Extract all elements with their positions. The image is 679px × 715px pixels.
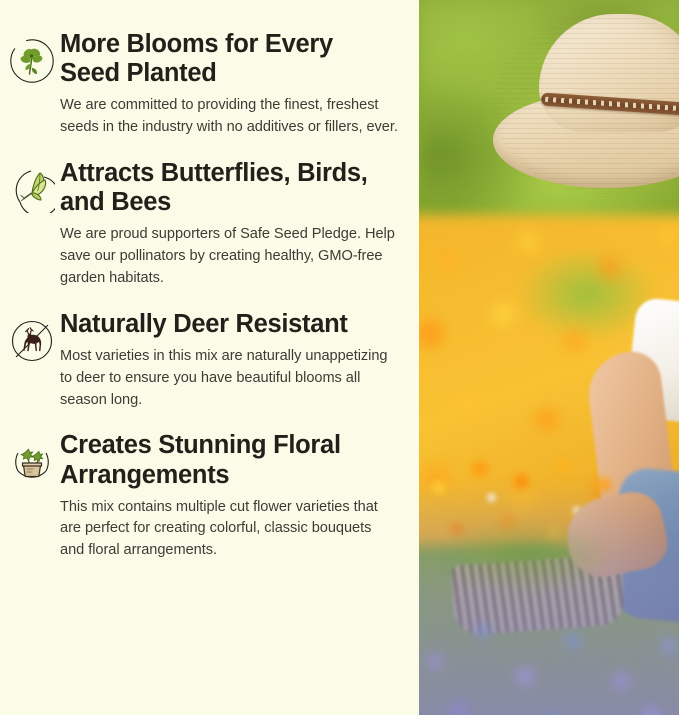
feature-item: More Blooms for Every Seed Planted We ar…: [4, 30, 407, 145]
flower-bloom-icon: [9, 38, 55, 84]
features-panel: More Blooms for Every Seed Planted We ar…: [0, 0, 419, 715]
feature-text: Attracts Butterflies, Birds, and Bees We…: [60, 159, 407, 290]
purple-wildflowers-foreground: [419, 481, 679, 715]
butterfly-icon: [9, 167, 55, 213]
feature-title: Naturally Deer Resistant: [60, 310, 399, 339]
lifestyle-photo: [419, 0, 679, 715]
feature-item: Attracts Butterflies, Birds, and Bees We…: [4, 159, 407, 296]
feature-title: Creates Stunning Floral Arrangements: [60, 431, 399, 489]
feature-icon-container: [4, 159, 60, 213]
feature-title: More Blooms for Every Seed Planted: [60, 30, 399, 88]
feature-text: Creates Stunning Floral Arrangements Thi…: [60, 431, 407, 562]
feature-item: Creates Stunning Floral Arrangements Thi…: [4, 431, 407, 568]
feature-icon-container: [4, 30, 60, 84]
potted-plant-icon: [9, 439, 55, 485]
feature-description: We are committed to providing the finest…: [60, 95, 399, 139]
no-deer-icon: [9, 318, 55, 364]
feature-description: We are proud supporters of Safe Seed Ple…: [60, 224, 399, 290]
product-feature-banner: More Blooms for Every Seed Planted We ar…: [0, 0, 679, 715]
feature-description: This mix contains multiple cut flower va…: [60, 497, 399, 563]
feature-description: Most varieties in this mix are naturally…: [60, 346, 399, 412]
curly-hair: [537, 158, 679, 278]
feature-item: Naturally Deer Resistant Most varieties …: [4, 310, 407, 418]
feature-icon-container: [4, 310, 60, 364]
feature-title: Attracts Butterflies, Birds, and Bees: [60, 159, 399, 217]
photo-stage: [419, 0, 679, 715]
feature-text: More Blooms for Every Seed Planted We ar…: [60, 30, 407, 139]
feature-text: Naturally Deer Resistant Most varieties …: [60, 310, 407, 412]
feature-icon-container: [4, 431, 60, 485]
